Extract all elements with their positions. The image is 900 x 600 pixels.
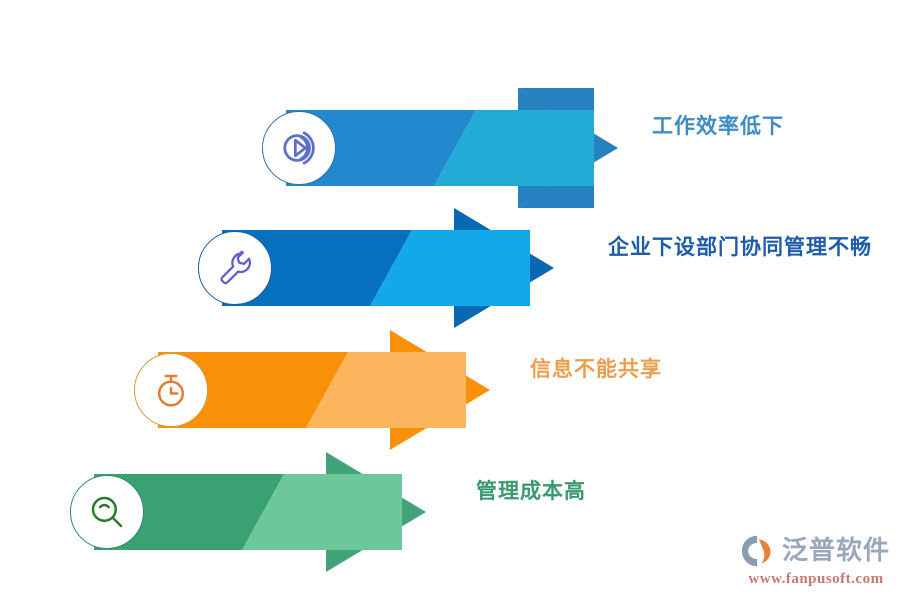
icon-badge-2[interactable] xyxy=(198,231,272,305)
row-label-2: 企业下设部门协同管理不畅 xyxy=(608,231,872,261)
watermark-brand: 泛普软件 xyxy=(782,534,890,568)
fast-forward-icon xyxy=(277,126,321,170)
watermark-url: www.fanpusoft.com xyxy=(740,571,892,588)
icon-badge-1[interactable] xyxy=(262,111,336,185)
icon-badge-4[interactable] xyxy=(70,475,144,549)
arrow-graphic-3 xyxy=(158,330,498,450)
arrow-shape-1 xyxy=(286,88,626,208)
watermark: 泛普软件 www.fanpusoft.com xyxy=(740,532,892,594)
infographic-canvas: 工作效率低下 企业下设部门协同管理不畅 xyxy=(0,0,900,600)
arrow-shape-3 xyxy=(158,330,498,450)
row-label-4: 管理成本高 xyxy=(476,475,586,505)
arrow-shape-4 xyxy=(94,452,434,572)
stopwatch-icon xyxy=(150,369,192,411)
arrow-graphic-2 xyxy=(222,208,562,328)
row-label-1: 工作效率低下 xyxy=(652,110,784,140)
fanpu-logo-icon xyxy=(740,534,776,568)
row-label-3: 信息不能共享 xyxy=(530,353,662,383)
watermark-brand-row: 泛普软件 xyxy=(740,532,892,570)
arrow-graphic-1 xyxy=(286,88,626,208)
arrow-graphic-4 xyxy=(94,452,434,572)
icon-badge-3[interactable] xyxy=(134,353,208,427)
arrow-shape-2 xyxy=(222,208,562,328)
magnifier-icon xyxy=(86,491,128,533)
wrench-icon xyxy=(214,247,256,289)
